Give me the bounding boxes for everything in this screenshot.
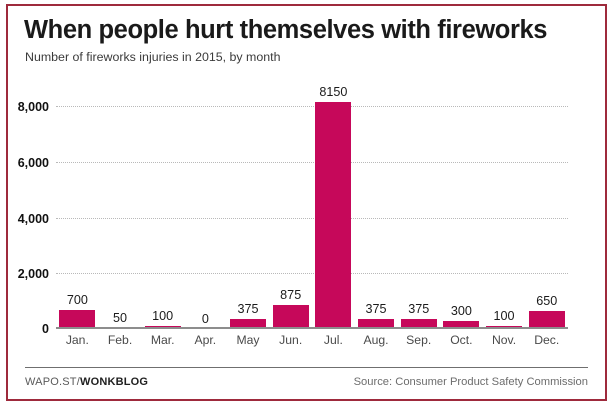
x-axis-tick-label: Mar. <box>141 333 184 347</box>
x-axis-labels: Jan.Feb.Mar.Apr.MayJun.Jul.Aug.Sep.Oct.N… <box>56 333 568 347</box>
bar-value-label: 375 <box>238 302 259 316</box>
brand-name: WONKBLOG <box>80 376 148 388</box>
bar-value-label: 375 <box>408 302 429 316</box>
footer-divider <box>25 367 588 368</box>
brand-prefix: WAPO.ST/ <box>25 376 80 388</box>
bar-value-label: 375 <box>366 302 387 316</box>
bar[interactable] <box>273 305 309 329</box>
x-axis-tick-label: Dec. <box>525 333 568 347</box>
chart-plot-area: 02,0004,0006,0008,000 700501000375875815… <box>56 84 568 329</box>
bar-value-label: 50 <box>113 311 127 325</box>
bar[interactable] <box>315 102 351 329</box>
x-axis-tick-label: Sep. <box>397 333 440 347</box>
x-axis-tick-label: Aug. <box>355 333 398 347</box>
bar-column[interactable]: 375 <box>355 84 398 329</box>
bar-value-label: 300 <box>451 304 472 318</box>
page-title: When people hurt themselves with firewor… <box>24 16 547 45</box>
bar-column[interactable]: 700 <box>56 84 99 329</box>
bar-column[interactable]: 375 <box>227 84 270 329</box>
y-axis-tick-label: 6,000 <box>18 156 49 170</box>
bar-series: 7005010003758758150375375300100650 <box>56 84 568 329</box>
x-axis-tick-label: May <box>227 333 270 347</box>
bar-value-label: 100 <box>494 309 515 323</box>
x-axis-tick-label: Jul. <box>312 333 355 347</box>
y-axis-tick-label: 0 <box>42 322 49 336</box>
bar-value-label: 0 <box>202 312 209 326</box>
y-axis-tick-label: 8,000 <box>18 100 49 114</box>
bar-column[interactable]: 300 <box>440 84 483 329</box>
bar-column[interactable]: 8150 <box>312 84 355 329</box>
x-axis-tick-label: Nov. <box>483 333 526 347</box>
bar-value-label: 100 <box>152 309 173 323</box>
chart-card: When people hurt themselves with firewor… <box>6 4 607 401</box>
bar-value-label: 700 <box>67 293 88 307</box>
x-axis-tick-label: Feb. <box>99 333 142 347</box>
y-axis-tick-label: 4,000 <box>18 212 49 226</box>
bar-column[interactable]: 875 <box>269 84 312 329</box>
source-label: Source: Consumer Product Safety Commissi… <box>354 376 588 388</box>
bar-column[interactable]: 650 <box>525 84 568 329</box>
bar-column[interactable]: 100 <box>141 84 184 329</box>
bar-column[interactable]: 50 <box>99 84 142 329</box>
bar-column[interactable]: 100 <box>483 84 526 329</box>
x-axis-tick-label: Jan. <box>56 333 99 347</box>
footer: WAPO.ST/WONKBLOG Source: Consumer Produc… <box>25 376 588 388</box>
chart-card-inner: When people hurt themselves with firewor… <box>8 6 605 399</box>
x-axis-tick-label: Apr. <box>184 333 227 347</box>
x-axis-tick-label: Oct. <box>440 333 483 347</box>
brand-label: WAPO.ST/WONKBLOG <box>25 376 148 388</box>
bar-value-label: 8150 <box>319 85 347 99</box>
y-axis-tick-label: 2,000 <box>18 267 49 281</box>
bar-value-label: 650 <box>536 294 557 308</box>
x-axis-tick-label: Jun. <box>269 333 312 347</box>
bar-column[interactable]: 0 <box>184 84 227 329</box>
chart-subtitle: Number of fireworks injuries in 2015, by… <box>25 50 281 64</box>
x-axis-line <box>56 327 568 329</box>
bar-column[interactable]: 375 <box>397 84 440 329</box>
bar-value-label: 875 <box>280 288 301 302</box>
